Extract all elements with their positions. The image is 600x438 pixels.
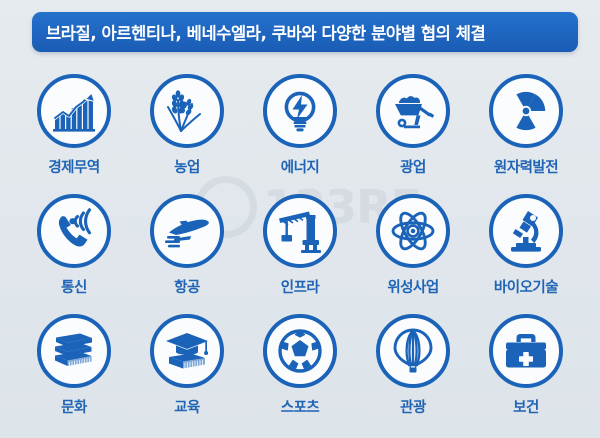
graduation-cap-book-icon[interactable]	[150, 314, 224, 388]
radiation-icon[interactable]	[489, 74, 563, 148]
category-item-11[interactable]: 문화	[26, 314, 122, 434]
category-item-2[interactable]: 농업	[139, 74, 235, 194]
growth-chart-icon[interactable]	[37, 74, 111, 148]
category-item-12[interactable]: 교육	[139, 314, 235, 434]
category-item-6[interactable]: 통신	[26, 194, 122, 314]
crane-icon[interactable]	[263, 194, 337, 268]
category-label: 에너지	[281, 156, 320, 177]
icon-grid: 경제무역	[0, 74, 600, 434]
title-banner: 브라질, 아르헨티나, 베네수엘라, 쿠바와 다양한 분야별 협의 체결	[32, 12, 578, 52]
lightbulb-bolt-icon[interactable]	[263, 74, 337, 148]
icon-row: 문화 교육 스포츠	[0, 314, 600, 434]
category-label: 관광	[400, 396, 426, 417]
category-label: 원자력발전	[494, 156, 558, 177]
category-label: 문화	[61, 396, 87, 417]
category-label: 스포츠	[281, 396, 320, 417]
airplane-icon[interactable]	[150, 194, 224, 268]
wheat-icon[interactable]	[150, 74, 224, 148]
category-label: 바이오기술	[494, 276, 558, 297]
wheelbarrow-icon[interactable]	[376, 74, 450, 148]
hot-air-balloon-icon[interactable]	[376, 314, 450, 388]
category-item-7[interactable]: 항공	[139, 194, 235, 314]
category-item-3[interactable]: 에너지	[252, 74, 348, 194]
category-item-1[interactable]: 경제무역	[26, 74, 122, 194]
category-label: 보건	[513, 396, 539, 417]
icon-row: 경제무역	[0, 74, 600, 194]
category-label: 경제무역	[48, 156, 99, 177]
category-label: 교육	[174, 396, 200, 417]
icon-row: 통신 항공	[0, 194, 600, 314]
atom-orbit-icon[interactable]	[376, 194, 450, 268]
category-item-4[interactable]: 광업	[365, 74, 461, 194]
category-label: 통신	[61, 276, 87, 297]
category-label: 항공	[174, 276, 200, 297]
category-label: 광업	[400, 156, 426, 177]
microscope-icon[interactable]	[489, 194, 563, 268]
category-item-9[interactable]: 위성사업	[365, 194, 461, 314]
medical-bag-icon[interactable]	[489, 314, 563, 388]
page-title: 브라질, 아르헨티나, 베네수엘라, 쿠바와 다양한 분야별 협의 체결	[32, 20, 485, 44]
category-label: 인프라	[281, 276, 320, 297]
category-item-14[interactable]: 관광	[365, 314, 461, 434]
category-label: 농업	[174, 156, 200, 177]
soccer-ball-icon[interactable]	[263, 314, 337, 388]
category-item-10[interactable]: 바이오기술	[478, 194, 574, 314]
category-item-13[interactable]: 스포츠	[252, 314, 348, 434]
books-icon[interactable]	[37, 314, 111, 388]
category-item-5[interactable]: 원자력발전	[478, 74, 574, 194]
category-item-8[interactable]: 인프라	[252, 194, 348, 314]
category-label: 위성사업	[387, 276, 438, 297]
phone-signal-icon[interactable]	[37, 194, 111, 268]
infographic-page: 123RF 브라질, 아르헨티나, 베네수엘라, 쿠바와 다양한 분야별 협의 …	[0, 0, 600, 438]
category-item-15[interactable]: 보건	[478, 314, 574, 434]
